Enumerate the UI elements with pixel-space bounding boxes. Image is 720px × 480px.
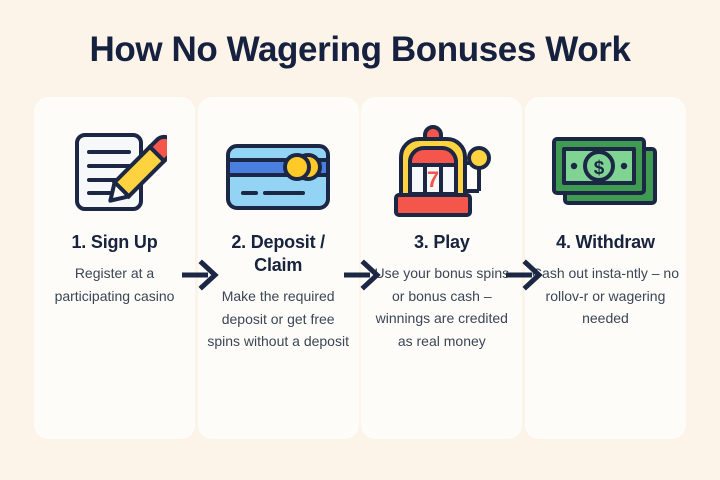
slot-machine-icon: 7 — [387, 125, 497, 221]
step-heading: 1. Sign Up — [71, 231, 157, 254]
step-card-withdraw[interactable]: $ 4. Withdraw Cash out insta-ntly – no r… — [525, 97, 686, 439]
arrow-right-icon — [180, 258, 220, 292]
cash-banknotes-icon: $ — [549, 133, 661, 213]
step-body: Register at a participating casino — [41, 262, 189, 307]
step-icon-wrap — [207, 119, 350, 227]
document-pencil-icon — [63, 126, 167, 220]
arrow-right-icon — [342, 258, 382, 292]
step-card-sign-up[interactable]: 1. Sign Up Register at a participating c… — [34, 97, 195, 439]
step-body: Make the required deposit or get free sp… — [204, 285, 352, 353]
arrow-right-icon — [504, 258, 544, 292]
step-icon-wrap — [43, 119, 186, 227]
infographic-page: How No Wagering Bonuses Work — [0, 0, 720, 480]
step-icon-wrap: $ — [534, 119, 677, 227]
svg-text:$: $ — [594, 158, 605, 179]
step-card-deposit-claim[interactable]: 2. Deposit / Claim Make the required dep… — [198, 97, 359, 439]
credit-card-coins-icon — [223, 133, 333, 213]
step-heading: 3. Play — [414, 231, 470, 254]
svg-text:7: 7 — [427, 167, 439, 192]
step-body: Use your bonus spins or bonus cash – win… — [368, 262, 516, 352]
step-heading: 4. Withdraw — [556, 231, 655, 254]
step-icon-wrap: 7 — [370, 119, 513, 227]
step-body: Cash out insta-ntly – no rollov-r or wag… — [531, 262, 679, 330]
step-card-play[interactable]: 7 3. Play Use your bonus spins or bonus … — [361, 97, 522, 439]
step-heading: 2. Deposit / Claim — [207, 231, 350, 277]
page-title: How No Wagering Bonuses Work — [0, 28, 720, 72]
